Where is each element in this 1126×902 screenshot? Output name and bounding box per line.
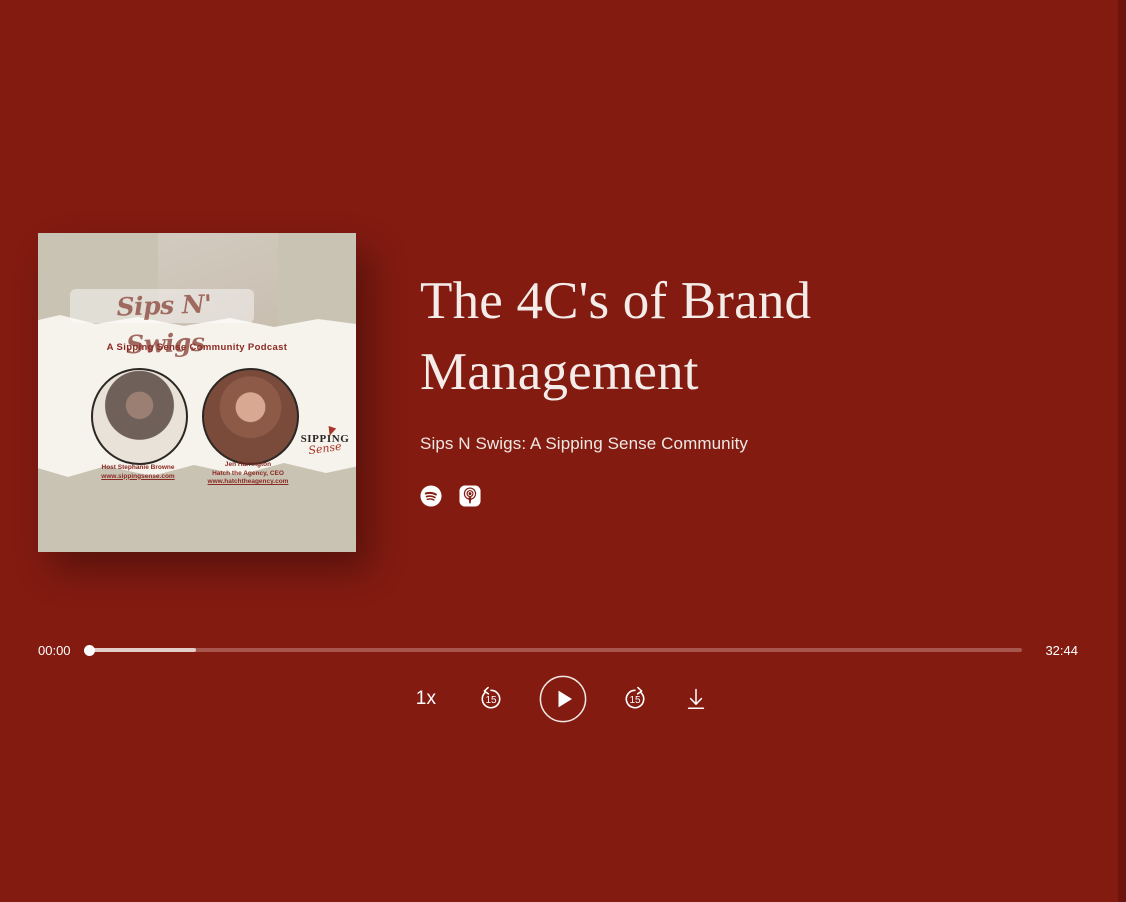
credit-name: Jen Harrington	[225, 461, 271, 468]
player-page: Sips N' Swigs A Sipping Sense Community …	[0, 0, 1118, 902]
download-icon[interactable]	[683, 686, 709, 712]
buffered-range	[88, 648, 196, 652]
episode-meta: The 4C's of Brand Management Sips N Swig…	[420, 266, 1070, 507]
cover-art[interactable]: Sips N' Swigs A Sipping Sense Community …	[38, 233, 356, 552]
credit-link: www.sippingsense.com	[78, 473, 198, 482]
audio-player: 00:00 32:44 1x 15 15	[0, 620, 1118, 740]
current-time: 00:00	[38, 643, 82, 658]
episode-section: Sips N' Swigs A Sipping Sense Community …	[38, 233, 1078, 573]
episode-show-name: Sips N Swigs: A Sipping Sense Community	[420, 434, 1070, 454]
progress-thumb[interactable]	[84, 645, 95, 656]
transport-controls: 1x 15 15	[0, 675, 1118, 723]
credit-link: www.hatchtheagency.com	[188, 478, 308, 487]
episode-title: The 4C's of Brand Management	[420, 266, 1070, 408]
rewind-15-icon[interactable]: 15	[476, 684, 506, 714]
apple-podcasts-icon[interactable]	[459, 485, 481, 507]
cover-logo-text: Sips N' Swigs	[73, 284, 254, 328]
headshot-guest	[202, 368, 299, 465]
cover-headshots	[91, 368, 303, 463]
cover-tagline: A Sipping Sense Community Podcast	[38, 342, 356, 353]
forward-15-icon[interactable]: 15	[620, 684, 650, 714]
progress-row: 00:00 32:44	[38, 638, 1078, 662]
duration: 32:44	[1032, 643, 1078, 658]
play-icon[interactable]	[539, 675, 587, 723]
cover-credit-host: Host Stephanie Browne www.sippingsense.c…	[78, 464, 198, 481]
sipping-sense-logo: SIPPING Sense	[300, 433, 350, 455]
progress-slider[interactable]	[88, 648, 1022, 652]
headshot-host	[91, 368, 188, 465]
cover-credit-guest: Jen Harrington Hatch the Agency, CEO www…	[188, 461, 308, 487]
platform-links	[420, 485, 1070, 507]
playback-speed-button[interactable]: 1x	[409, 688, 443, 710]
scribble-ring-icon	[91, 368, 188, 465]
scribble-ring-icon	[202, 368, 299, 465]
page-edge-strip	[1118, 0, 1126, 902]
rewind-seconds-label: 15	[485, 695, 497, 706]
credit-name: Host Stephanie Browne	[102, 464, 175, 471]
credit-role: Hatch the Agency, CEO	[188, 470, 308, 479]
spotify-icon[interactable]	[420, 485, 442, 507]
forward-seconds-label: 15	[629, 695, 641, 706]
cover-art-image: Sips N' Swigs A Sipping Sense Community …	[38, 233, 356, 552]
